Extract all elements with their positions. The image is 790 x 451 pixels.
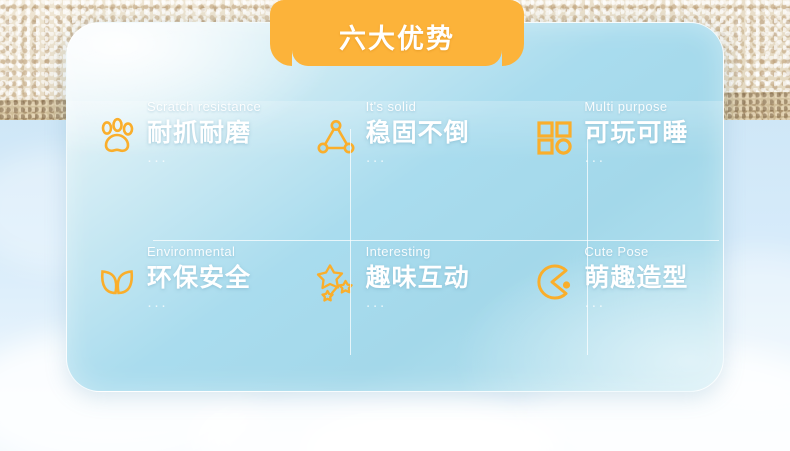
- feature-chinese-label: 趣味互动: [366, 260, 470, 296]
- divider-vertical-right: [587, 129, 588, 355]
- feature-text-block: Interesting 趣味互动 ···: [366, 242, 470, 313]
- feature-english-label: Cute Pose: [584, 244, 688, 260]
- feature-item-cute-pose: Cute Pose 萌趣造型 ···: [504, 228, 723, 373]
- feature-item-interesting: Interesting 趣味互动 ···: [286, 228, 505, 373]
- leaves-icon: [93, 258, 141, 306]
- grid-squares-icon: [530, 113, 578, 161]
- feature-dots: ···: [584, 153, 688, 168]
- feature-chinese-label: 可玩可睡: [584, 115, 688, 151]
- paw-print-icon: [93, 113, 141, 161]
- feature-text-block: Environmental 环保安全 ···: [147, 242, 251, 313]
- ribbon-tail-left: [270, 0, 292, 66]
- pacman-circle-icon: [530, 258, 578, 306]
- divider-horizontal: [153, 240, 719, 241]
- feature-dots: ···: [584, 298, 688, 313]
- features-grid: Scratch resistance 耐抓耐磨 ··· It's solid: [67, 23, 723, 391]
- feature-english-label: Scratch resistance: [147, 99, 261, 115]
- page-title: 六大优势: [339, 11, 455, 56]
- feature-text-block: It's solid 稳固不倒 ···: [366, 97, 470, 168]
- ribbon-body: 六大优势: [292, 0, 502, 66]
- feature-item-multi-purpose: Multi purpose 可玩可睡 ···: [504, 83, 723, 228]
- feature-text-block: Scratch resistance 耐抓耐磨 ···: [147, 97, 261, 168]
- feature-dots: ···: [366, 298, 470, 313]
- feature-english-label: Interesting: [366, 244, 470, 260]
- feature-chinese-label: 耐抓耐磨: [147, 115, 261, 151]
- features-card: Scratch resistance 耐抓耐磨 ··· It's solid: [66, 22, 724, 392]
- feature-chinese-label: 萌趣造型: [584, 260, 688, 296]
- feature-dots: ···: [147, 298, 251, 313]
- feature-dots: ···: [147, 153, 261, 168]
- divider-vertical-left: [350, 129, 351, 355]
- feature-item-environmental: Environmental 环保安全 ···: [67, 228, 286, 373]
- feature-text-block: Cute Pose 萌趣造型 ···: [584, 242, 688, 313]
- feature-chinese-label: 稳固不倒: [366, 115, 470, 151]
- feature-english-label: It's solid: [366, 99, 470, 115]
- magic-wand-stars-icon: [312, 258, 360, 306]
- feature-text-block: Multi purpose 可玩可睡 ···: [584, 97, 688, 168]
- feature-chinese-label: 环保安全: [147, 260, 251, 296]
- triangle-nodes-icon: [312, 113, 360, 161]
- title-ribbon: 六大优势: [292, 0, 502, 70]
- feature-english-label: Multi purpose: [584, 99, 688, 115]
- page-stage: Scratch resistance 耐抓耐磨 ··· It's solid: [0, 0, 790, 451]
- feature-item-scratch-resistance: Scratch resistance 耐抓耐磨 ···: [67, 83, 286, 228]
- feature-dots: ···: [366, 153, 470, 168]
- feature-english-label: Environmental: [147, 244, 251, 260]
- feature-item-its-solid: It's solid 稳固不倒 ···: [286, 83, 505, 228]
